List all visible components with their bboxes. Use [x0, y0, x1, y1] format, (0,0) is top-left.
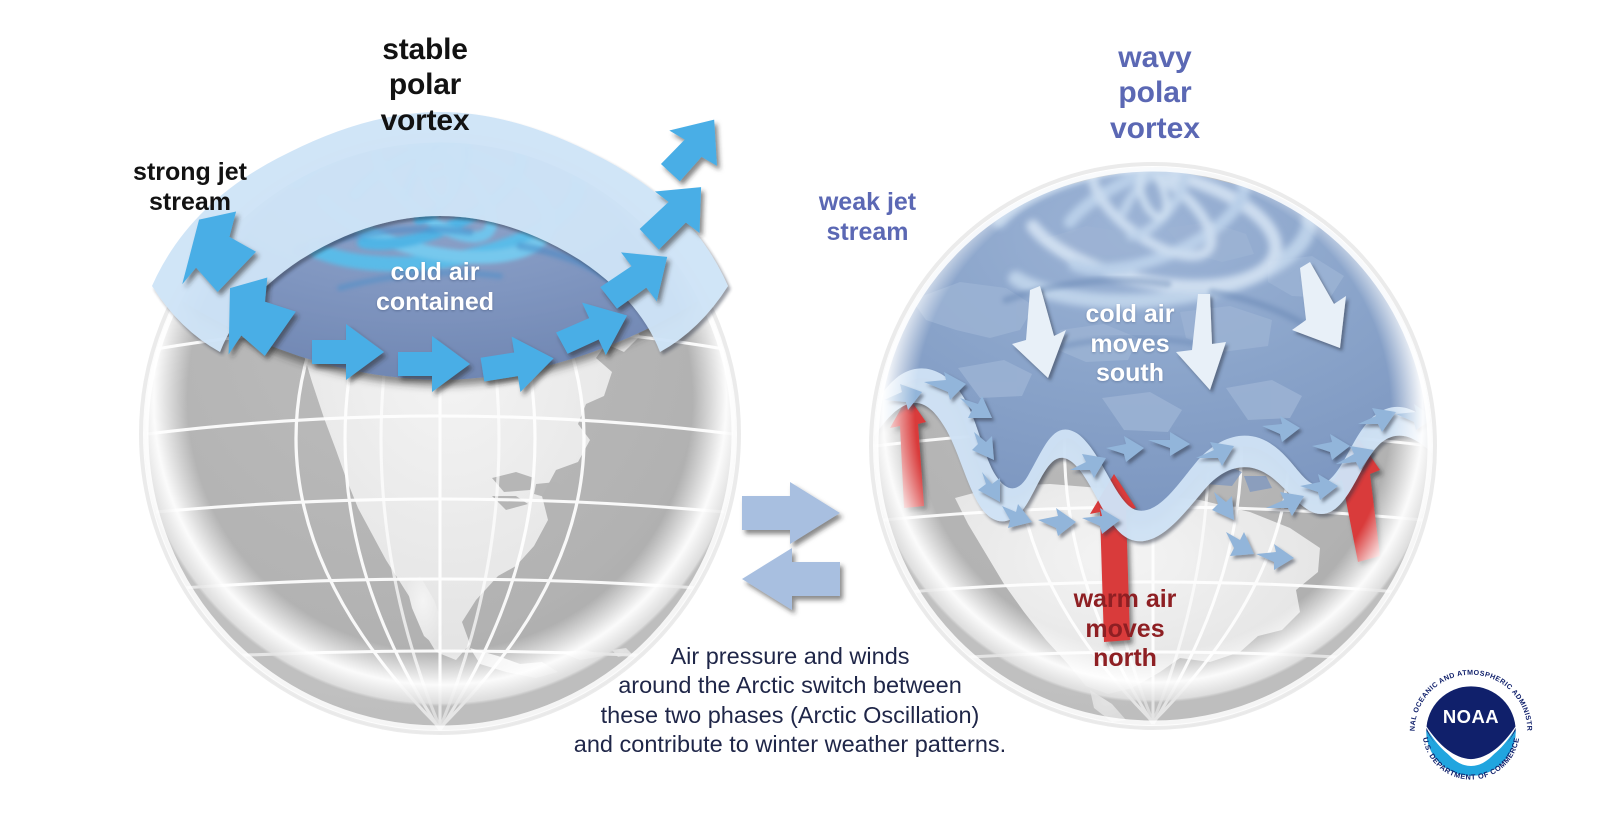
switch-arrow-right	[742, 482, 840, 544]
globe-left-stable	[141, 112, 739, 734]
diagram-canvas: stable polar vortex strong jet stream co…	[0, 0, 1610, 832]
noaa-logo: NOAA NATIONAL OCEANIC AND ATMOSPHERIC AD…	[1403, 663, 1539, 799]
noaa-wordmark: NOAA	[1443, 706, 1499, 727]
polar-vortex-illustration	[0, 0, 1610, 832]
globe-right-wavy	[860, 140, 1440, 729]
phase-switch-arrows	[742, 482, 840, 610]
switch-arrow-left	[742, 548, 840, 610]
